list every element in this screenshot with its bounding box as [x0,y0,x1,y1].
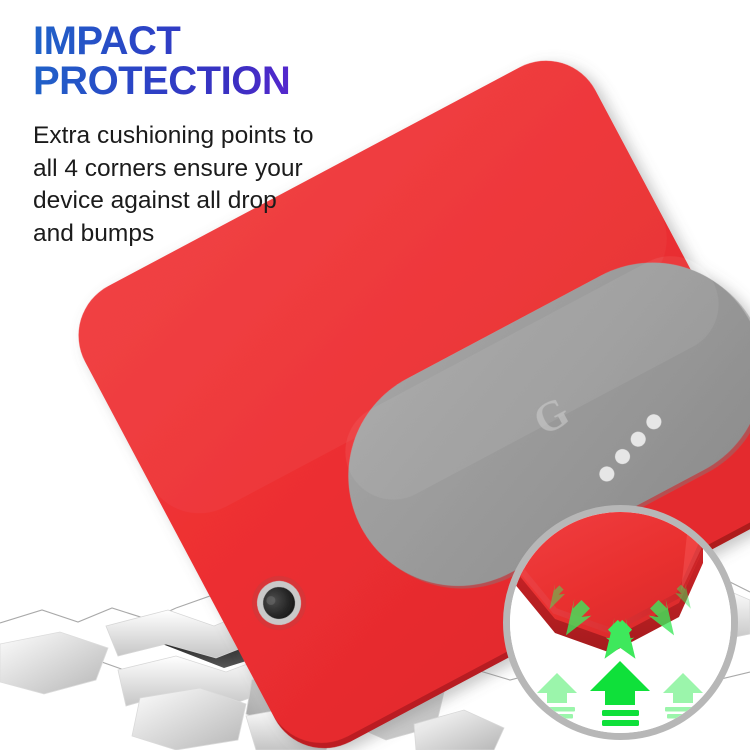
feature-description: Extra cushioning points to all 4 corners… [33,120,323,250]
product-marketing-banner: G IMPACT PROTECTION Extr [0,0,750,750]
corner-detail-magnifier [503,505,738,740]
page-title: IMPACT PROTECTION [33,22,453,101]
